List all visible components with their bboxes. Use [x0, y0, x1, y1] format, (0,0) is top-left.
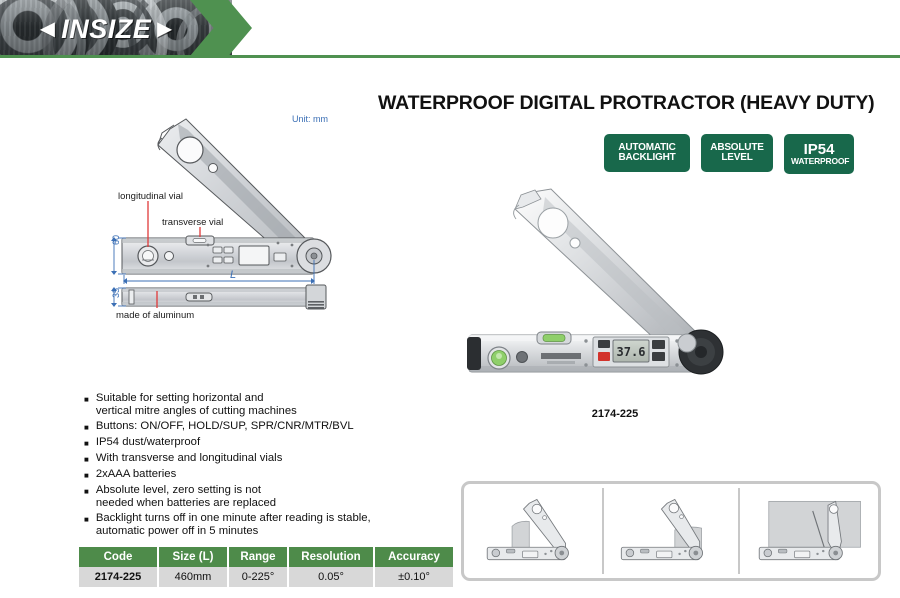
bullet-square-icon: ■	[84, 436, 89, 451]
product-svg: 37.6	[455, 185, 765, 400]
cell-accuracy: ±0.10°	[374, 567, 453, 587]
feature-text: Absolute level, zero setting is notneede…	[96, 484, 276, 511]
column-header-code: Code	[79, 547, 158, 567]
application-diagram-3	[740, 488, 874, 574]
dimension-length: L	[230, 269, 236, 281]
page-header: ◄INSIZE►	[0, 0, 900, 62]
callout-longitudinal-vial: longitudinal vial	[118, 191, 183, 202]
list-item: ■ Absolute level, zero setting is notnee…	[84, 484, 404, 511]
app3-svg	[740, 488, 874, 574]
logo-arrow-right-icon: ►	[152, 17, 177, 42]
bullet-square-icon: ■	[84, 512, 89, 527]
callout-made-of-aluminum: made of aluminum	[116, 310, 194, 321]
callout-transverse-vial: transverse vial	[162, 217, 223, 228]
product-main-body: 37.6	[467, 330, 723, 374]
column-header-size: Size (L)	[158, 547, 228, 567]
list-item: ■ Suitable for setting horizontal andver…	[84, 392, 404, 419]
cell-resolution: 0.05°	[288, 567, 374, 587]
feature-badges: AUTOMATIC BACKLIGHT ABSOLUTE LEVEL IP54 …	[604, 134, 854, 174]
cell-range: 0-225°	[228, 567, 288, 587]
dimension-height: 60	[111, 235, 121, 245]
feature-list: ■ Suitable for setting horizontal andver…	[84, 392, 404, 539]
page-title: WATERPROOF DIGITAL PROTRACTOR (HEAVY DUT…	[378, 92, 878, 115]
feature-text: Backlight turns off in one minute after …	[96, 512, 371, 539]
badge-line1: IP54	[791, 142, 847, 158]
lcd-reading: 37.6	[617, 345, 646, 359]
badge-automatic-backlight: AUTOMATIC BACKLIGHT	[604, 134, 690, 172]
feature-text: Suitable for setting horizontal andverti…	[96, 392, 297, 419]
drawing-svg	[100, 105, 375, 325]
column-header-accuracy: Accuracy	[374, 547, 453, 567]
bullet-square-icon: ■	[84, 420, 89, 435]
table-row: 2174-225 460mm 0-225° 0.05° ±0.10°	[79, 567, 453, 587]
column-header-range: Range	[228, 547, 288, 567]
app2-svg	[604, 488, 738, 574]
cell-size: 460mm	[158, 567, 228, 587]
drawing-side-view	[122, 285, 326, 309]
application-diagram-1	[468, 488, 604, 574]
drawing-main-body	[122, 236, 331, 274]
list-item: ■ With transverse and longitudinal vials	[84, 452, 404, 467]
specification-table: Code Size (L) Range Resolution Accuracy …	[79, 547, 453, 587]
list-item: ■ 2xAAA batteries	[84, 468, 404, 483]
badge-absolute-level: ABSOLUTE LEVEL	[701, 134, 773, 172]
badge-line2: LEVEL	[708, 153, 766, 164]
bullet-square-icon: ■	[84, 484, 89, 499]
feature-text: Buttons: ON/OFF, HOLD/SUP, SPR/CNR/MTR/B…	[96, 420, 354, 433]
cell-code: 2174-225	[79, 567, 158, 587]
product-brand-mark	[541, 353, 581, 364]
table-header-row: Code Size (L) Range Resolution Accuracy	[79, 547, 453, 567]
feature-text: With transverse and longitudinal vials	[96, 452, 283, 465]
insize-logo: ◄INSIZE►	[35, 14, 178, 45]
logo-wordmark: INSIZE	[61, 14, 151, 45]
bullet-square-icon: ■	[84, 452, 89, 467]
list-item: ■ Buttons: ON/OFF, HOLD/SUP, SPR/CNR/MTR…	[84, 420, 404, 435]
badge-line2: WATERPROOF	[791, 157, 847, 166]
app1-svg	[468, 488, 602, 574]
list-item: ■ IP54 dust/waterproof	[84, 436, 404, 451]
application-diagram-2	[604, 488, 740, 574]
list-item: ■ Backlight turns off in one minute afte…	[84, 512, 404, 539]
dimension-thickness: 35	[111, 288, 121, 298]
badge-ip54-waterproof: IP54 WATERPROOF	[784, 134, 854, 174]
bullet-square-icon: ■	[84, 468, 89, 483]
column-header-resolution: Resolution	[288, 547, 374, 567]
application-diagrams-panel	[461, 481, 881, 581]
product-photo: 37.6	[455, 185, 765, 400]
technical-drawing: Unit: mm longitudinal vial transverse vi…	[100, 105, 375, 325]
feature-text: 2xAAA batteries	[96, 468, 176, 481]
badge-line2: BACKLIGHT	[611, 153, 683, 164]
logo-arrow-left-icon: ◄	[35, 17, 60, 42]
header-white-rule	[0, 58, 900, 59]
unit-note: Unit: mm	[292, 114, 328, 124]
bullet-square-icon: ■	[84, 392, 89, 407]
product-code-label: 2174-225	[560, 408, 670, 420]
feature-text: IP54 dust/waterproof	[96, 436, 200, 449]
